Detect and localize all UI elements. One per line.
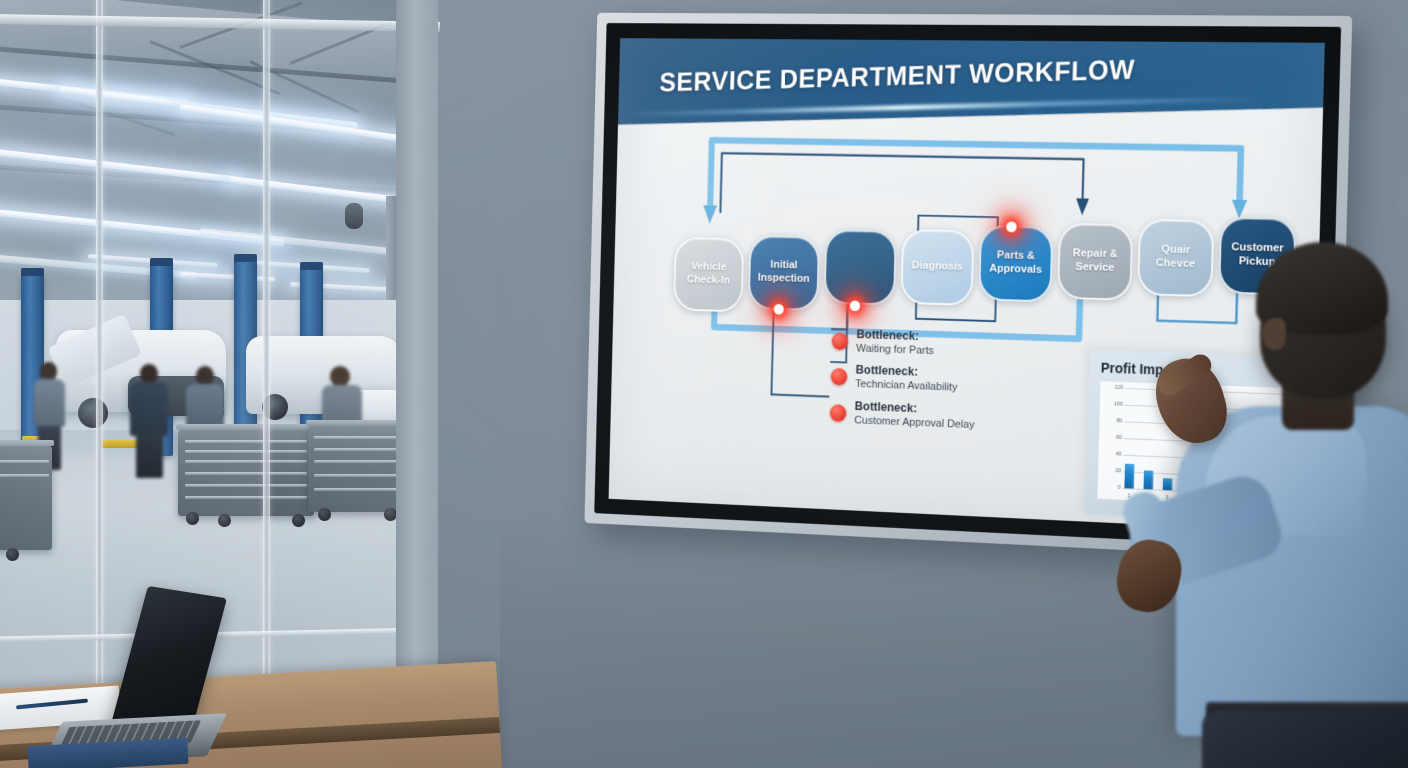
bottleneck-item[interactable]: Bottleneck: Customer Approval Delay [830,398,975,432]
workflow-node-diagnosis[interactable]: Diagnosis [900,229,974,306]
tool-cabinet [0,446,52,550]
bottleneck-dot-icon [830,404,847,422]
ceiling-light-strip [0,208,285,246]
ceiling-light-strip [180,104,432,147]
node-label-line2: Inspection [758,272,810,286]
workflow-node-initial-inspection[interactable]: InitialInspection [748,235,820,311]
workflow-node-unlabeled-stage[interactable] [824,229,897,306]
wall-column [396,0,438,768]
node-label-line2: Approvals [989,263,1042,278]
bottleneck-detail: Waiting for Parts [856,342,934,358]
technician [130,364,170,476]
cabinet-caster [6,548,19,561]
workflow-node-vehicle-check-in[interactable]: VehicleCheck-In [673,237,744,313]
ceiling-light-strip [180,272,275,282]
presenter-ear [1262,318,1286,350]
presentation-room-scene: SERVICE DEPARTMENT WORKFLOW [0,0,1408,768]
cabinet-top [0,440,54,446]
workflow-node-parts-approvals[interactable]: Parts &Approvals [978,225,1053,303]
service-bay-through-glass [0,0,432,768]
glass-mullion [263,0,270,768]
cabinet-caster [292,514,305,527]
glass-mullion [96,0,103,768]
node-label-line1: Parts & [989,250,1042,265]
cabinet-caster [218,514,231,527]
ceiling-light-strip [0,148,237,183]
bottleneck-hotspot-icon[interactable] [774,304,784,315]
cabinet-caster [318,508,331,521]
presenter-trousers [1202,710,1408,768]
bottleneck-dot-icon [831,367,848,385]
bottleneck-item[interactable]: Bottleneck: Technician Availability [831,362,958,395]
node-label-line1: Vehicle [687,261,730,275]
bottleneck-item[interactable]: Bottleneck: Waiting for Parts [831,327,934,358]
bottleneck-hotspot-icon[interactable] [850,300,860,311]
vehicle-wheel [78,398,108,428]
cabinet-caster [186,512,199,525]
bottleneck-dot-icon [832,332,849,350]
wall-speaker [345,203,363,229]
tool-cabinet [178,430,314,516]
presenter [1110,240,1408,768]
node-label-line2: Check-In [687,274,730,288]
node-label-line1: Diagnosis [912,260,963,274]
